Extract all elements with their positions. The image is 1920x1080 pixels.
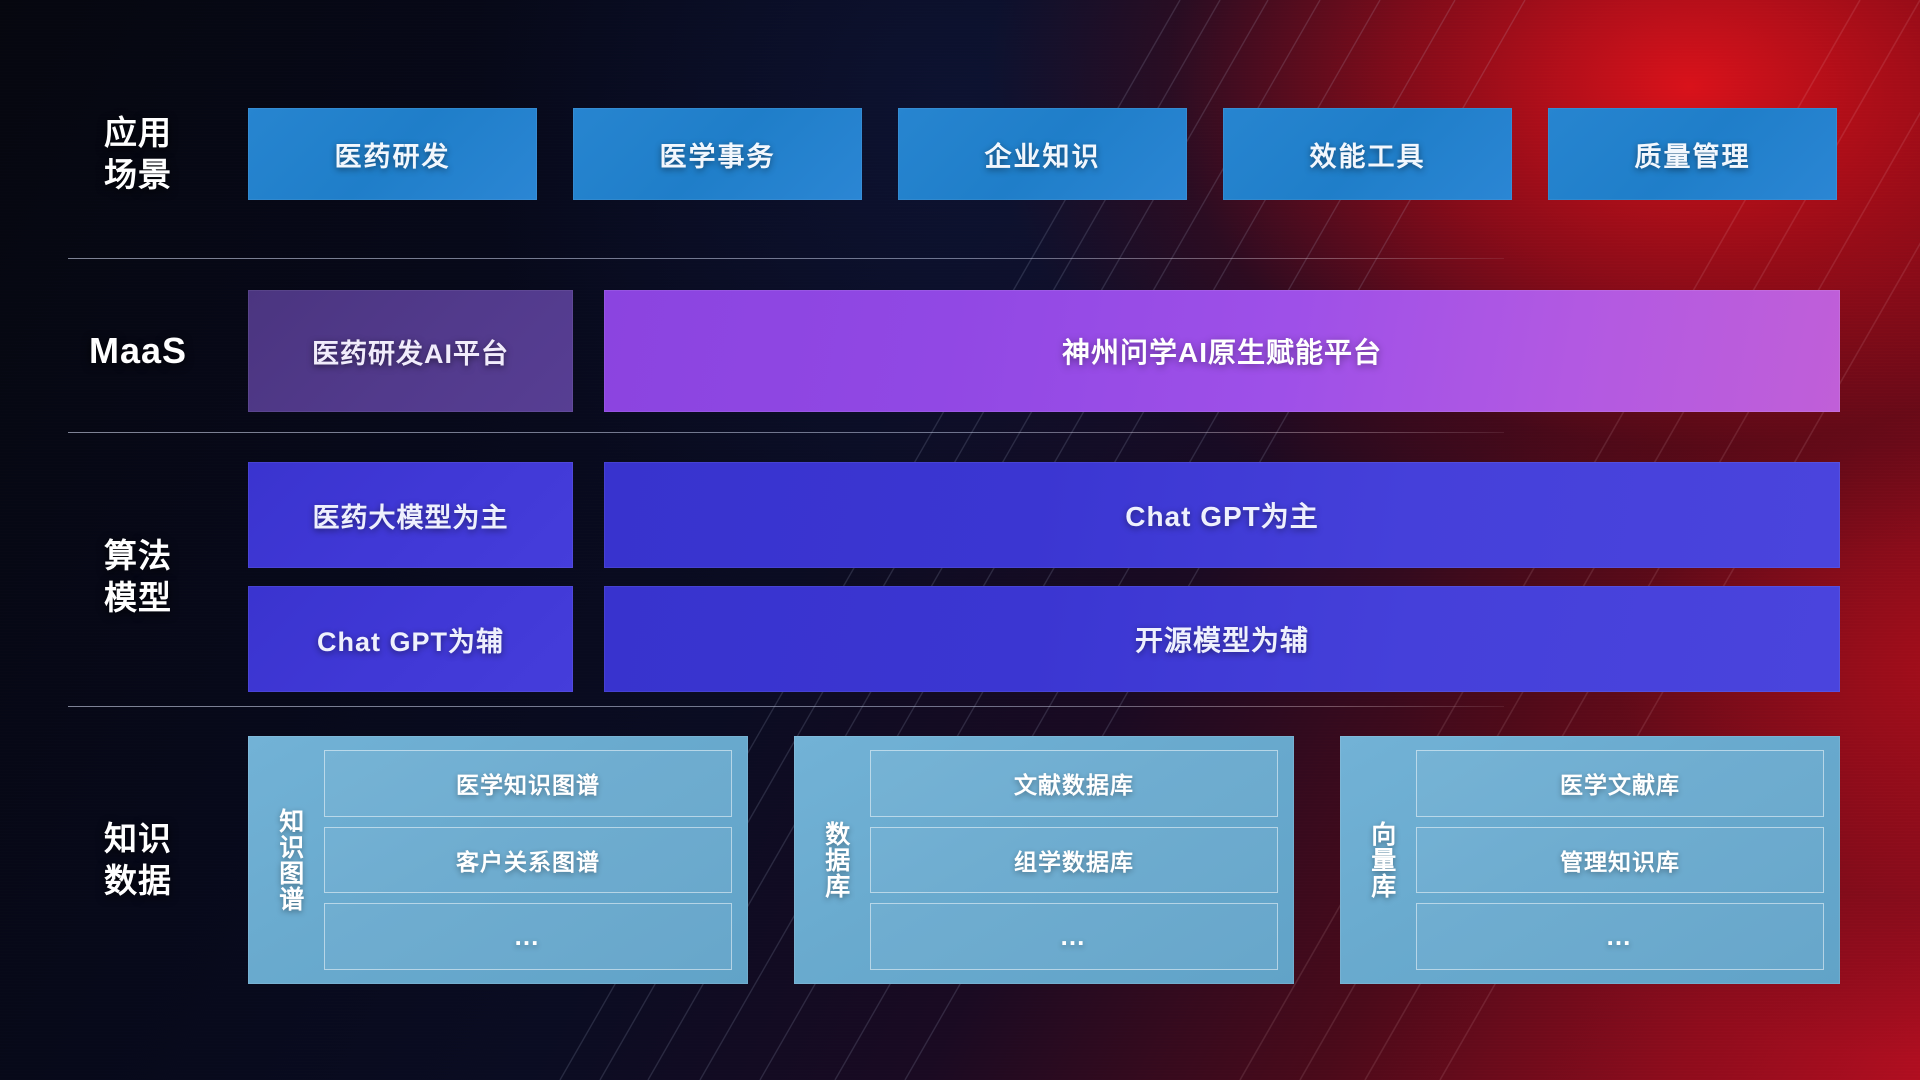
knowledge-item-list: 医学知识图谱 客户关系图谱 … (318, 750, 732, 970)
knowledge-item[interactable]: 医学知识图谱 (324, 750, 732, 817)
knowledge-panel-title: 知识图谱 (260, 750, 318, 970)
algo-card-label: Chat GPT为辅 (317, 620, 504, 659)
app-card-drug-rd[interactable]: 医药研发 (248, 108, 537, 200)
knowledge-panel-title: 数据库 (806, 750, 864, 970)
knowledge-item[interactable]: 管理知识库 (1416, 827, 1824, 894)
knowledge-item[interactable]: 医学文献库 (1416, 750, 1824, 817)
app-card-medical-affairs[interactable]: 医学事务 (573, 108, 862, 200)
algo-card-label: Chat GPT为主 (1125, 495, 1319, 535)
tier-knowledge-data: 知识图谱 医学知识图谱 客户关系图谱 … 数据库 文献数据库 组学数据库 … 向… (0, 736, 1920, 984)
diagram-canvas: 应用 场景 医药研发 医学事务 企业知识 效能工具 质量管理 MaaS 医药研发… (0, 0, 1920, 1080)
algo-card-secondary-right[interactable]: 开源模型为辅 (604, 586, 1840, 692)
app-card-label: 医学事务 (660, 135, 776, 174)
app-card-label: 效能工具 (1310, 135, 1426, 174)
knowledge-panel-vector-store[interactable]: 向量库 医学文献库 管理知识库 … (1340, 736, 1840, 984)
maas-card-label: 神州问学AI原生赋能平台 (1062, 331, 1382, 371)
knowledge-item-list: 文献数据库 组学数据库 … (864, 750, 1278, 970)
maas-card-label: 医药研发AI平台 (312, 332, 509, 371)
maas-card-drug-rd-ai-platform[interactable]: 医药研发AI平台 (248, 290, 573, 412)
knowledge-item[interactable]: 文献数据库 (870, 750, 1278, 817)
knowledge-item-more[interactable]: … (324, 903, 732, 970)
divider-apps-maas (68, 258, 1504, 259)
app-card-label: 质量管理 (1635, 135, 1751, 174)
algo-card-primary-right[interactable]: Chat GPT为主 (604, 462, 1840, 568)
knowledge-panel-title: 向量库 (1352, 750, 1410, 970)
knowledge-panel-knowledge-graph[interactable]: 知识图谱 医学知识图谱 客户关系图谱 … (248, 736, 748, 984)
algo-card-primary-left[interactable]: 医药大模型为主 (248, 462, 573, 568)
app-card-enterprise-knowledge[interactable]: 企业知识 (898, 108, 1187, 200)
app-card-efficiency-tools[interactable]: 效能工具 (1223, 108, 1512, 200)
algo-card-label: 医药大模型为主 (313, 496, 509, 535)
algo-card-secondary-left[interactable]: Chat GPT为辅 (248, 586, 573, 692)
algo-card-label: 开源模型为辅 (1135, 619, 1309, 659)
knowledge-item-more[interactable]: … (870, 903, 1278, 970)
tier-algorithm-models: 医药大模型为主 Chat GPT为主 Chat GPT为辅 开源模型为辅 (0, 462, 1920, 692)
tier-maas: 医药研发AI平台 神州问学AI原生赋能平台 (0, 290, 1920, 412)
knowledge-item-more[interactable]: … (1416, 903, 1824, 970)
knowledge-item[interactable]: 组学数据库 (870, 827, 1278, 894)
app-card-quality-management[interactable]: 质量管理 (1548, 108, 1837, 200)
divider-algo-knowledge (68, 706, 1504, 707)
app-card-label: 医药研发 (335, 135, 451, 174)
tier-application-scenarios: 医药研发 医学事务 企业知识 效能工具 质量管理 (0, 108, 1920, 200)
knowledge-item[interactable]: 客户关系图谱 (324, 827, 732, 894)
knowledge-panel-database[interactable]: 数据库 文献数据库 组学数据库 … (794, 736, 1294, 984)
knowledge-item-list: 医学文献库 管理知识库 … (1410, 750, 1824, 970)
maas-card-shenzhou-wenxue-platform[interactable]: 神州问学AI原生赋能平台 (604, 290, 1840, 412)
app-card-label: 企业知识 (985, 135, 1101, 174)
divider-maas-algo (68, 432, 1504, 433)
